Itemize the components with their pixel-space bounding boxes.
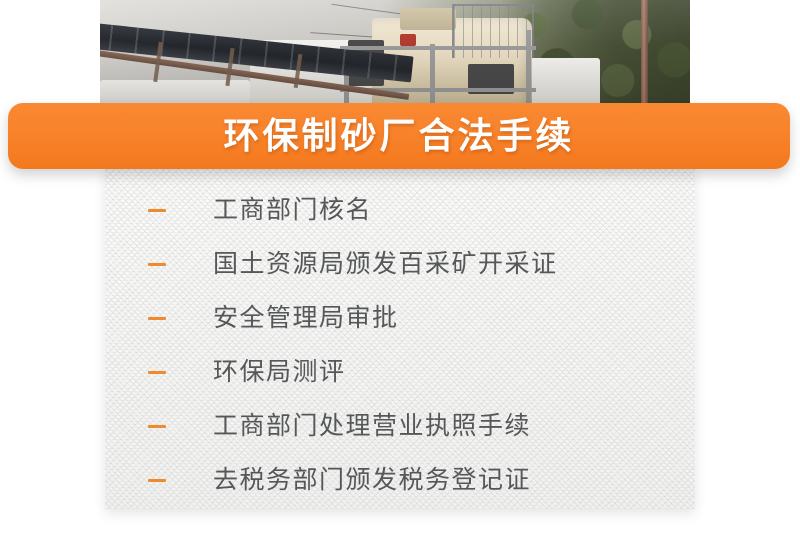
list-item-label: 安全管理局审批 (213, 306, 399, 331)
procedure-checklist: 工商部门核名 国土资源局颁发百采矿开采证 安全管理局审批 环保局测评 工商部门处… (105, 168, 695, 509)
photo-vignette (100, 0, 690, 115)
infographic-root: 环保制砂厂合法手续 工商部门核名 国土资源局颁发百采矿开采证 安全管理局审批 环… (0, 0, 800, 544)
list-item-label: 工商部门处理营业执照手续 (213, 414, 531, 439)
list-item-label: 去税务部门颁发税务登记证 (213, 468, 531, 493)
list-item-label: 环保局测评 (213, 360, 346, 385)
header-photo (100, 0, 690, 115)
dash-bullet-icon (148, 209, 166, 212)
page-title: 环保制砂厂合法手续 (223, 118, 574, 154)
list-item: 工商部门处理营业执照手续 (105, 399, 695, 453)
photo-canvas (100, 0, 690, 115)
dash-bullet-icon (148, 425, 166, 428)
list-item-label: 工商部门核名 (213, 198, 372, 223)
dash-bullet-icon (148, 317, 166, 320)
list-item: 去税务部门颁发税务登记证 (105, 453, 695, 507)
list-item-label: 国土资源局颁发百采矿开采证 (213, 252, 558, 277)
dash-bullet-icon (148, 263, 166, 266)
title-banner: 环保制砂厂合法手续 (8, 103, 790, 169)
list-item: 国土资源局颁发百采矿开采证 (105, 237, 695, 291)
dash-bullet-icon (148, 371, 166, 374)
list-item: 安全管理局审批 (105, 291, 695, 345)
list-item: 工商部门核名 (105, 183, 695, 237)
dash-bullet-icon (148, 479, 166, 482)
list-item: 环保局测评 (105, 345, 695, 399)
